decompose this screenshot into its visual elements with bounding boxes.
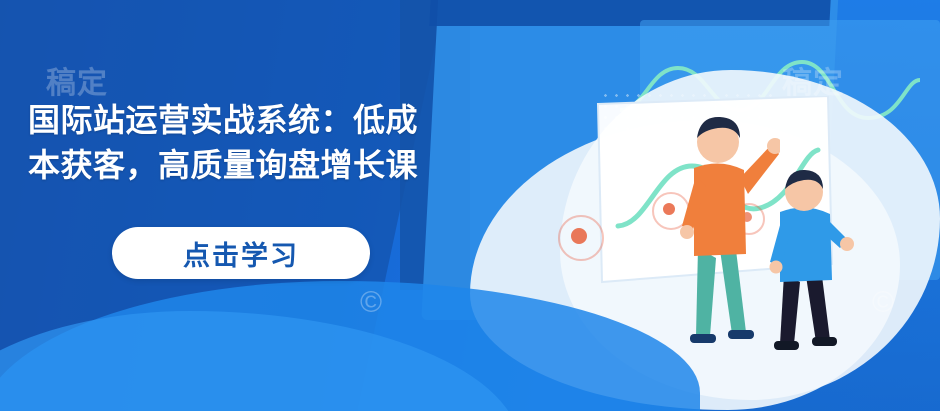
headline-line-2: 本获客，高质量询盘增长课 <box>28 143 608 188</box>
watermark-right: 稿定 <box>782 58 844 102</box>
headline: 国际站运营实战系统：低成 本获客，高质量询盘增长课 <box>28 98 608 189</box>
cta-button[interactable]: 点击学习 <box>112 227 370 279</box>
accent-dot-ring-1 <box>558 215 604 261</box>
promo-banner: 稿定 稿定 © © 国际站运营实战系统：低成 本获客，高质量询盘增长课 点击学习 <box>0 0 940 411</box>
person-right-illustration <box>752 166 862 358</box>
headline-line-1: 国际站运营实战系统：低成 <box>28 98 608 143</box>
watermark-left: 稿定 <box>46 58 108 102</box>
watermark-copyright-right: © <box>872 286 894 320</box>
cta-button-label: 点击学习 <box>183 234 299 273</box>
watermark-copyright-left: © <box>360 286 382 320</box>
